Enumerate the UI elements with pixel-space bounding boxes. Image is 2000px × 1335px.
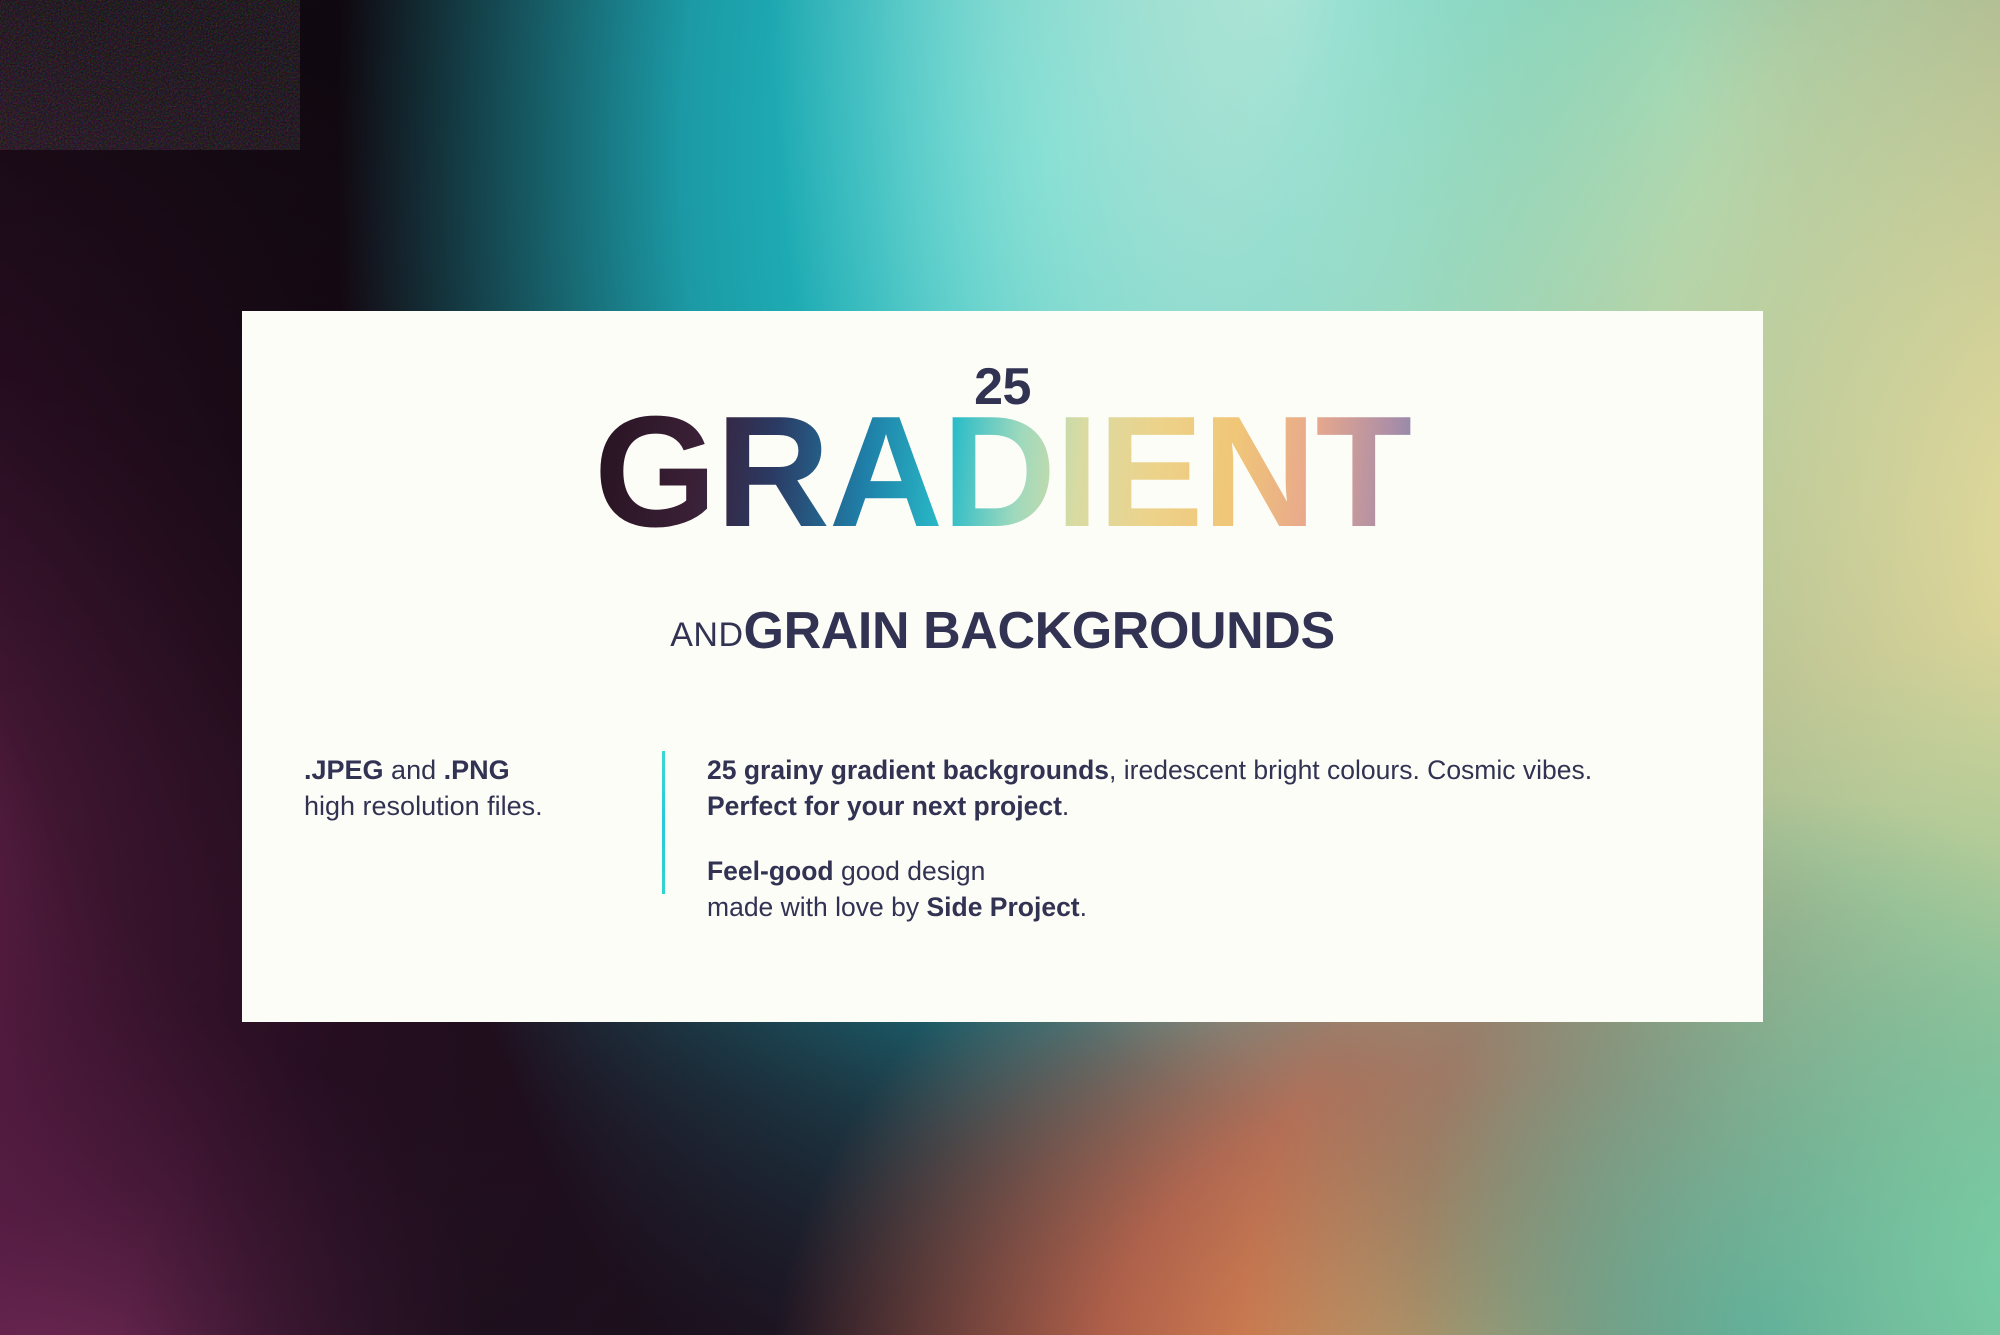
description-paragraph: 25 grainy gradient backgrounds, iredesce… — [707, 753, 1723, 824]
content-card: 25 GRADIENT ANDGRAIN BACKGROUNDS .JPEG a… — [242, 311, 1763, 1022]
credit-feelgood: Feel-good — [707, 856, 834, 886]
description-rest: , iredescent bright colours. Cosmic vibe… — [1109, 755, 1592, 785]
credit-paragraph: Feel-good good design made with love by … — [707, 854, 1723, 925]
description-highlight-count: 25 grainy gradient backgrounds — [707, 755, 1109, 785]
vertical-divider — [662, 751, 665, 894]
description-period: . — [1062, 791, 1069, 821]
resolution-line: high resolution files. — [304, 789, 644, 825]
subtitle: ANDGRAIN BACKGROUNDS — [242, 601, 1763, 661]
file-formats-line: .JPEG and .PNG — [304, 753, 644, 789]
file-formats-column: .JPEG and .PNG high resolution files. — [304, 751, 644, 925]
format-png: .PNG — [444, 755, 510, 785]
credit-period: . — [1080, 892, 1087, 922]
poster-canvas: 25 GRADIENT ANDGRAIN BACKGROUNDS .JPEG a… — [0, 0, 2000, 1335]
wordmark-gradient: GRADIENT — [242, 393, 1763, 551]
credit-brand: Side Project — [926, 892, 1079, 922]
details-section: .JPEG and .PNG high resolution files. 25… — [304, 751, 1723, 925]
format-jpeg: .JPEG — [304, 755, 384, 785]
subtitle-prefix: AND — [670, 616, 743, 654]
format-conjunction: and — [384, 755, 444, 785]
description-highlight-perfect: Perfect for your next project — [707, 791, 1062, 821]
description-column: 25 grainy gradient backgrounds, iredesce… — [707, 751, 1723, 925]
credit-madewith: made with love by — [707, 892, 926, 922]
credit-design: good design — [834, 856, 986, 886]
subtitle-main: GRAIN BACKGROUNDS — [744, 602, 1335, 660]
